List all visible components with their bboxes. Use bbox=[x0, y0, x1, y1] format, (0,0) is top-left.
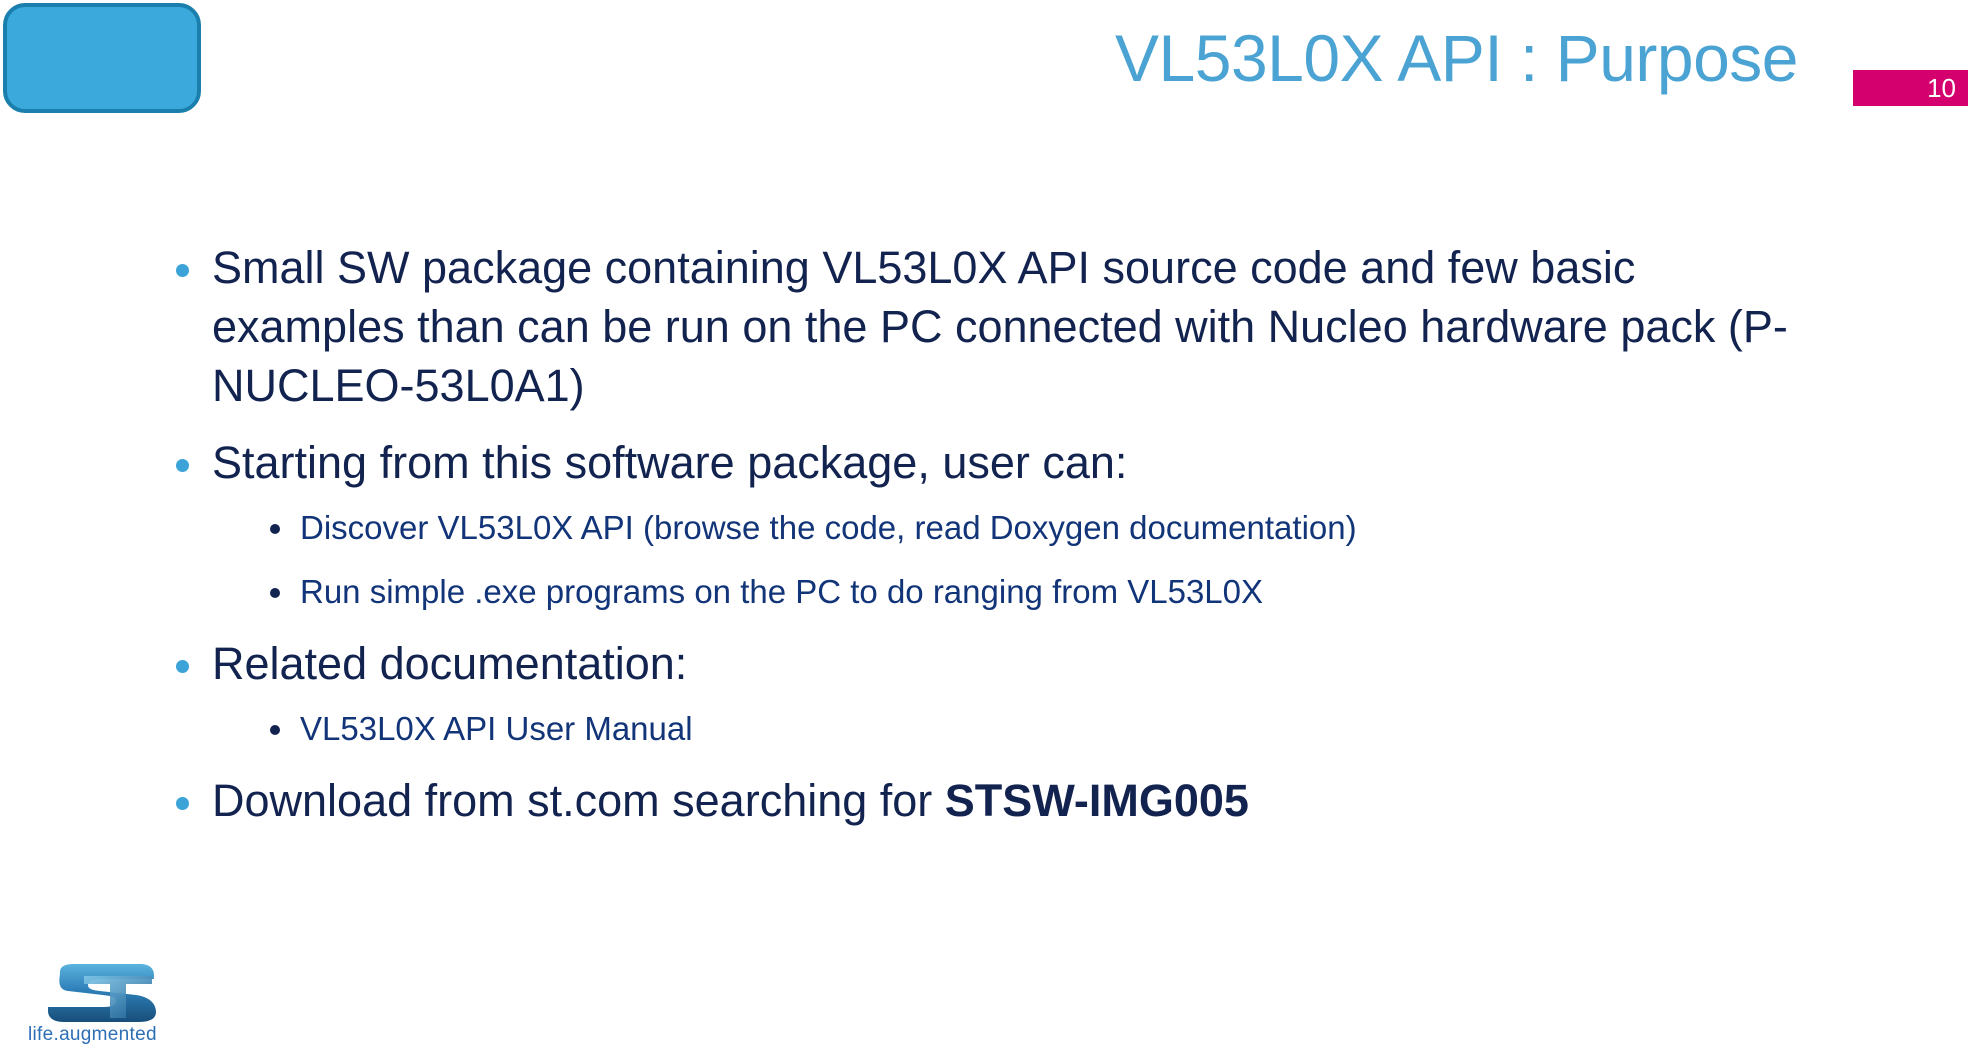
sub-bullet-text: Run simple .exe programs on the PC to do… bbox=[300, 573, 1263, 610]
page-number-badge: 10 bbox=[1853, 70, 1968, 106]
sub-bullet-dot-icon bbox=[270, 588, 280, 598]
bullet-text: Download from st.com searching for bbox=[212, 775, 945, 826]
bullet-item: Related documentation: VL53L0X API User … bbox=[0, 634, 1968, 751]
st-logo-mark-icon bbox=[40, 962, 158, 1024]
sub-bullet-list: Discover VL53L0X API (browse the code, r… bbox=[212, 506, 1788, 614]
sub-bullet-item: Discover VL53L0X API (browse the code, r… bbox=[212, 506, 1788, 550]
page-number-label: 10 bbox=[1927, 75, 1956, 101]
slide-body: Small SW package containing VL53L0X API … bbox=[0, 238, 1968, 848]
sub-bullet-text: Discover VL53L0X API (browse the code, r… bbox=[300, 509, 1357, 546]
bullet-list: Small SW package containing VL53L0X API … bbox=[0, 238, 1968, 830]
sub-bullet-text: VL53L0X API User Manual bbox=[300, 710, 693, 747]
bullet-text: Small SW package containing VL53L0X API … bbox=[212, 242, 1788, 411]
bullet-item: Starting from this software package, use… bbox=[0, 433, 1968, 614]
st-logo-tagline: life.augmented bbox=[28, 1024, 157, 1046]
logo-placeholder-box[interactable] bbox=[3, 3, 201, 113]
page-title: VL53L0X API : Purpose bbox=[1115, 18, 1798, 98]
bullet-text-strong: STSW-IMG005 bbox=[945, 775, 1249, 826]
bullet-text: Starting from this software package, use… bbox=[212, 437, 1127, 488]
sub-bullet-item: Run simple .exe programs on the PC to do… bbox=[212, 570, 1788, 614]
sub-bullet-item: VL53L0X API User Manual bbox=[212, 707, 1788, 751]
bullet-dot-icon bbox=[176, 660, 189, 673]
sub-bullet-dot-icon bbox=[270, 524, 280, 534]
st-logo: life.augmented bbox=[26, 962, 178, 1048]
bullet-dot-icon bbox=[176, 459, 189, 472]
bullet-dot-icon bbox=[176, 797, 189, 810]
bullet-dot-icon bbox=[176, 264, 189, 277]
bullet-text: Related documentation: bbox=[212, 638, 687, 689]
slide: VL53L0X API : Purpose 10 Small SW packag… bbox=[0, 0, 1968, 1052]
sub-bullet-dot-icon bbox=[270, 725, 280, 735]
bullet-item: Small SW package containing VL53L0X API … bbox=[0, 238, 1968, 415]
sub-bullet-list: VL53L0X API User Manual bbox=[212, 707, 1788, 751]
bullet-item: Download from st.com searching for STSW-… bbox=[0, 771, 1968, 830]
